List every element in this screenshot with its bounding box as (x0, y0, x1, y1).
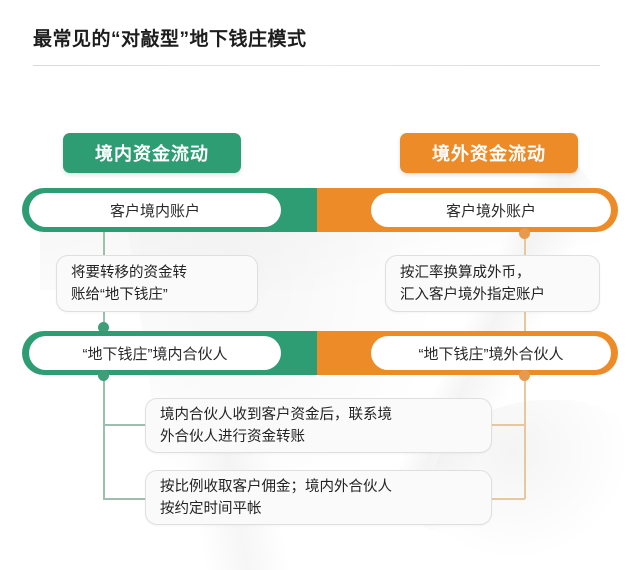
diagram-canvas: 最常见的“对敲型”地下钱庄模式 境内资金流动 境外资金流动 客户境内账户 客户境… (0, 0, 633, 560)
note-right-step-1-text: 按汇率换算成外币， 汇入客户境外指定账户 (386, 262, 559, 306)
note-left-step-1: 将要转移的资金转 账给“地下钱庄” (56, 255, 258, 312)
connector-dot-right-lower (519, 370, 530, 381)
badge-domestic-flow: 境内资金流动 (63, 133, 241, 173)
note-left-step-1-text: 将要转移的资金转 账给“地下钱庄” (57, 262, 201, 306)
title-divider (33, 65, 600, 66)
node-customer-domestic-account: 客户境内账户 (29, 193, 281, 227)
badge-overseas-flow: 境外资金流动 (400, 133, 578, 173)
connector-right-vertical-lower (524, 375, 526, 499)
page-title: 最常见的“对敲型”地下钱庄模式 (33, 24, 307, 51)
node-underground-bank-domestic-partner: “地下钱庄”境内合伙人 (29, 336, 281, 370)
connector-dot-left-lower (98, 370, 109, 381)
connector-dot-right-upper (519, 228, 530, 239)
connector-left-branch-2 (103, 498, 145, 500)
note-bottom-2-text: 按比例收取客户佣金；境内外合伙人 按约定时间平帐 (146, 476, 406, 520)
note-bottom-1-text: 境内合伙人收到客户资金后，联系境 外合伙人进行资金转账 (146, 404, 406, 448)
note-right-step-1: 按汇率换算成外币， 汇入客户境外指定账户 (385, 255, 600, 312)
node-customer-overseas-account: 客户境外账户 (371, 193, 611, 227)
note-bottom-2: 按比例收取客户佣金；境内外合伙人 按约定时间平帐 (145, 470, 492, 525)
note-bottom-1: 境内合伙人收到客户资金后，联系境 外合伙人进行资金转账 (145, 398, 492, 453)
node-underground-bank-overseas-partner: “地下钱庄”境外合伙人 (371, 336, 611, 370)
connector-left-branch-1 (103, 424, 145, 426)
connector-left-vertical-lower (103, 375, 105, 499)
